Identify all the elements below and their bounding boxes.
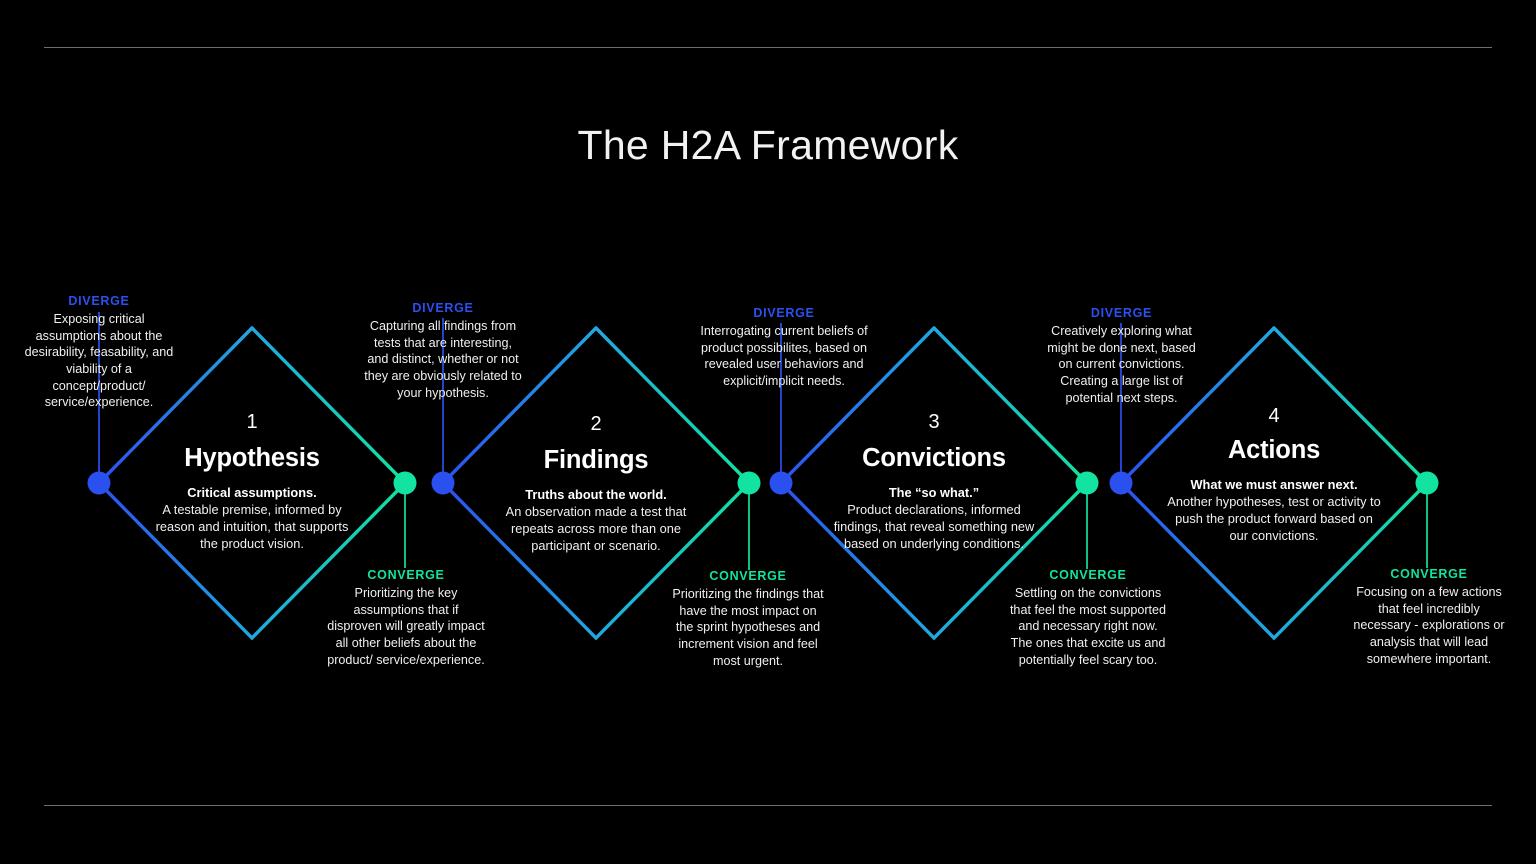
header-divider (44, 47, 1492, 48)
stage-center-1: 1 Hypothesis Critical assumptions. A tes… (152, 412, 352, 552)
diverge-text: Exposing critical assumptions about the … (18, 311, 180, 411)
converge-label: CONVERGE (1008, 567, 1168, 583)
stage-center-4: 4 Actions What we must answer next. Anot… (1165, 406, 1383, 544)
converge-text: Focusing on a few actions that feel incr… (1349, 584, 1509, 667)
stage-lead: The “so what.” (831, 484, 1037, 501)
stage-lead: Truths about the world. (489, 486, 703, 503)
stage-title: Convictions (831, 444, 1037, 473)
stage-number: 4 (1165, 406, 1383, 426)
diverge-block-1: DIVERGE Exposing critical assumptions ab… (18, 293, 180, 411)
page-title: The H2A Framework (0, 122, 1536, 169)
diverge-text: Creatively exploring what might be done … (1040, 323, 1203, 406)
slide-canvas: The H2A Framework (0, 0, 1536, 864)
diverge-label: DIVERGE (700, 305, 868, 321)
stage-body: Another hypotheses, test or activity to … (1165, 493, 1383, 544)
diverge-block-4: DIVERGE Creatively exploring what might … (1040, 305, 1203, 406)
stage-lead: Critical assumptions. (152, 484, 352, 501)
diverge-text: Interrogating current beliefs of product… (700, 323, 868, 389)
converge-text: Prioritizing the findings that have the … (672, 586, 824, 669)
stage-number: 1 (152, 412, 352, 432)
diverge-label: DIVERGE (1040, 305, 1203, 321)
converge-label: CONVERGE (327, 567, 485, 583)
stage-number: 2 (489, 414, 703, 434)
converge-text: Prioritizing the key assumptions that if… (327, 585, 485, 668)
stage-number: 3 (831, 412, 1037, 432)
diverge-label: DIVERGE (362, 300, 524, 316)
stage-title: Actions (1165, 436, 1383, 465)
stage-title: Findings (489, 446, 703, 475)
stage-body: An observation made a test that repeats … (489, 503, 703, 554)
stage-center-2: 2 Findings Truths about the world. An ob… (489, 414, 703, 554)
converge-label: CONVERGE (672, 568, 824, 584)
stage-title: Hypothesis (152, 444, 352, 473)
footer-divider (44, 805, 1492, 806)
stage-body: A testable premise, informed by reason a… (152, 501, 352, 552)
converge-label: CONVERGE (1349, 566, 1509, 582)
converge-block-1: CONVERGE Prioritizing the key assumption… (327, 567, 485, 668)
stage-lead: What we must answer next. (1165, 476, 1383, 493)
stage-body: Product declarations, informed findings,… (831, 501, 1037, 552)
stage-center-3: 3 Convictions The “so what.” Product dec… (831, 412, 1037, 552)
diverge-label: DIVERGE (18, 293, 180, 309)
converge-block-4: CONVERGE Focusing on a few actions that … (1349, 566, 1509, 667)
converge-block-2: CONVERGE Prioritizing the findings that … (672, 568, 824, 669)
diverge-text: Capturing all findings from tests that a… (362, 318, 524, 401)
converge-block-3: CONVERGE Settling on the convictions tha… (1008, 567, 1168, 668)
diverge-block-2: DIVERGE Capturing all findings from test… (362, 300, 524, 401)
diverge-block-3: DIVERGE Interrogating current beliefs of… (700, 305, 868, 390)
converge-text: Settling on the convictions that feel th… (1008, 585, 1168, 668)
